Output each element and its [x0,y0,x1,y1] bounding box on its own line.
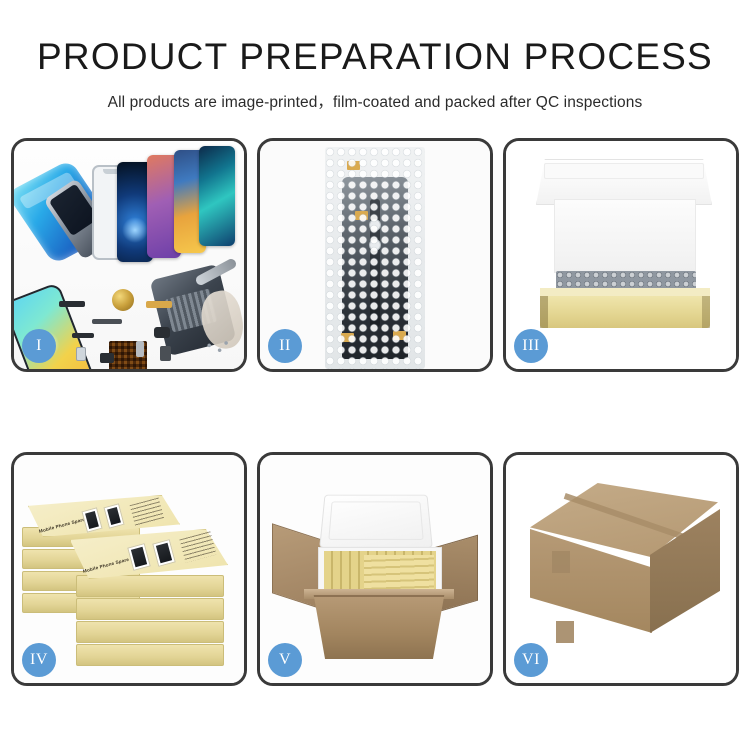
carton-tape-top [552,551,570,573]
step-badge-1: I [22,329,56,363]
chip-part-2 [100,353,114,363]
speaker-part-icon [112,289,134,311]
step-panel-2[interactable]: II [257,138,493,372]
screws-icon [204,339,230,355]
step-panel-4[interactable]: Mobile Phone Spare Parts Mobile Phone Sp… [11,452,247,686]
part-bar-1 [59,301,85,307]
flex-cable-1 [146,301,172,308]
box-lid-edge [544,163,704,179]
bubble-bag [325,147,425,369]
carton-front [308,595,450,659]
phone-teal-icon [199,146,235,246]
step-badge-6: VI [514,643,548,677]
chip-part-1 [76,347,86,361]
carton-tape-bottom [556,621,574,643]
step-badge-2: II [268,329,302,363]
stacked-box-r4 [76,644,224,666]
page-subtitle: All products are image-printed，film-coat… [0,90,750,112]
process-steps-grid: I II III [11,138,739,686]
flex-cable-2 [136,341,144,357]
foam-lid [319,495,433,548]
page-header: PRODUCT PREPARATION PROCESS All products… [0,0,750,112]
step-badge-4: IV [22,643,56,677]
stacked-box-r2 [76,598,224,620]
step-panel-1[interactable]: I [11,138,247,372]
chip-part-3 [160,346,171,361]
yellow-box-front [540,296,710,328]
foam-sheet [554,199,696,273]
step-panel-3[interactable]: III [503,138,739,372]
bubble-texture [325,147,425,369]
part-bar-3 [154,327,170,338]
stacked-box-r3 [76,621,224,643]
yellow-boxes-row-2 [364,555,434,593]
step-badge-5: V [268,643,302,677]
part-bar-2 [72,333,94,338]
step-panel-6[interactable]: VI [503,452,739,686]
step-badge-3: III [514,329,548,363]
page-title: PRODUCT PREPARATION PROCESS [0,38,750,77]
step-panel-5[interactable]: V [257,452,493,686]
stacked-box-r1 [76,575,224,597]
flex-cable-3 [92,319,122,324]
